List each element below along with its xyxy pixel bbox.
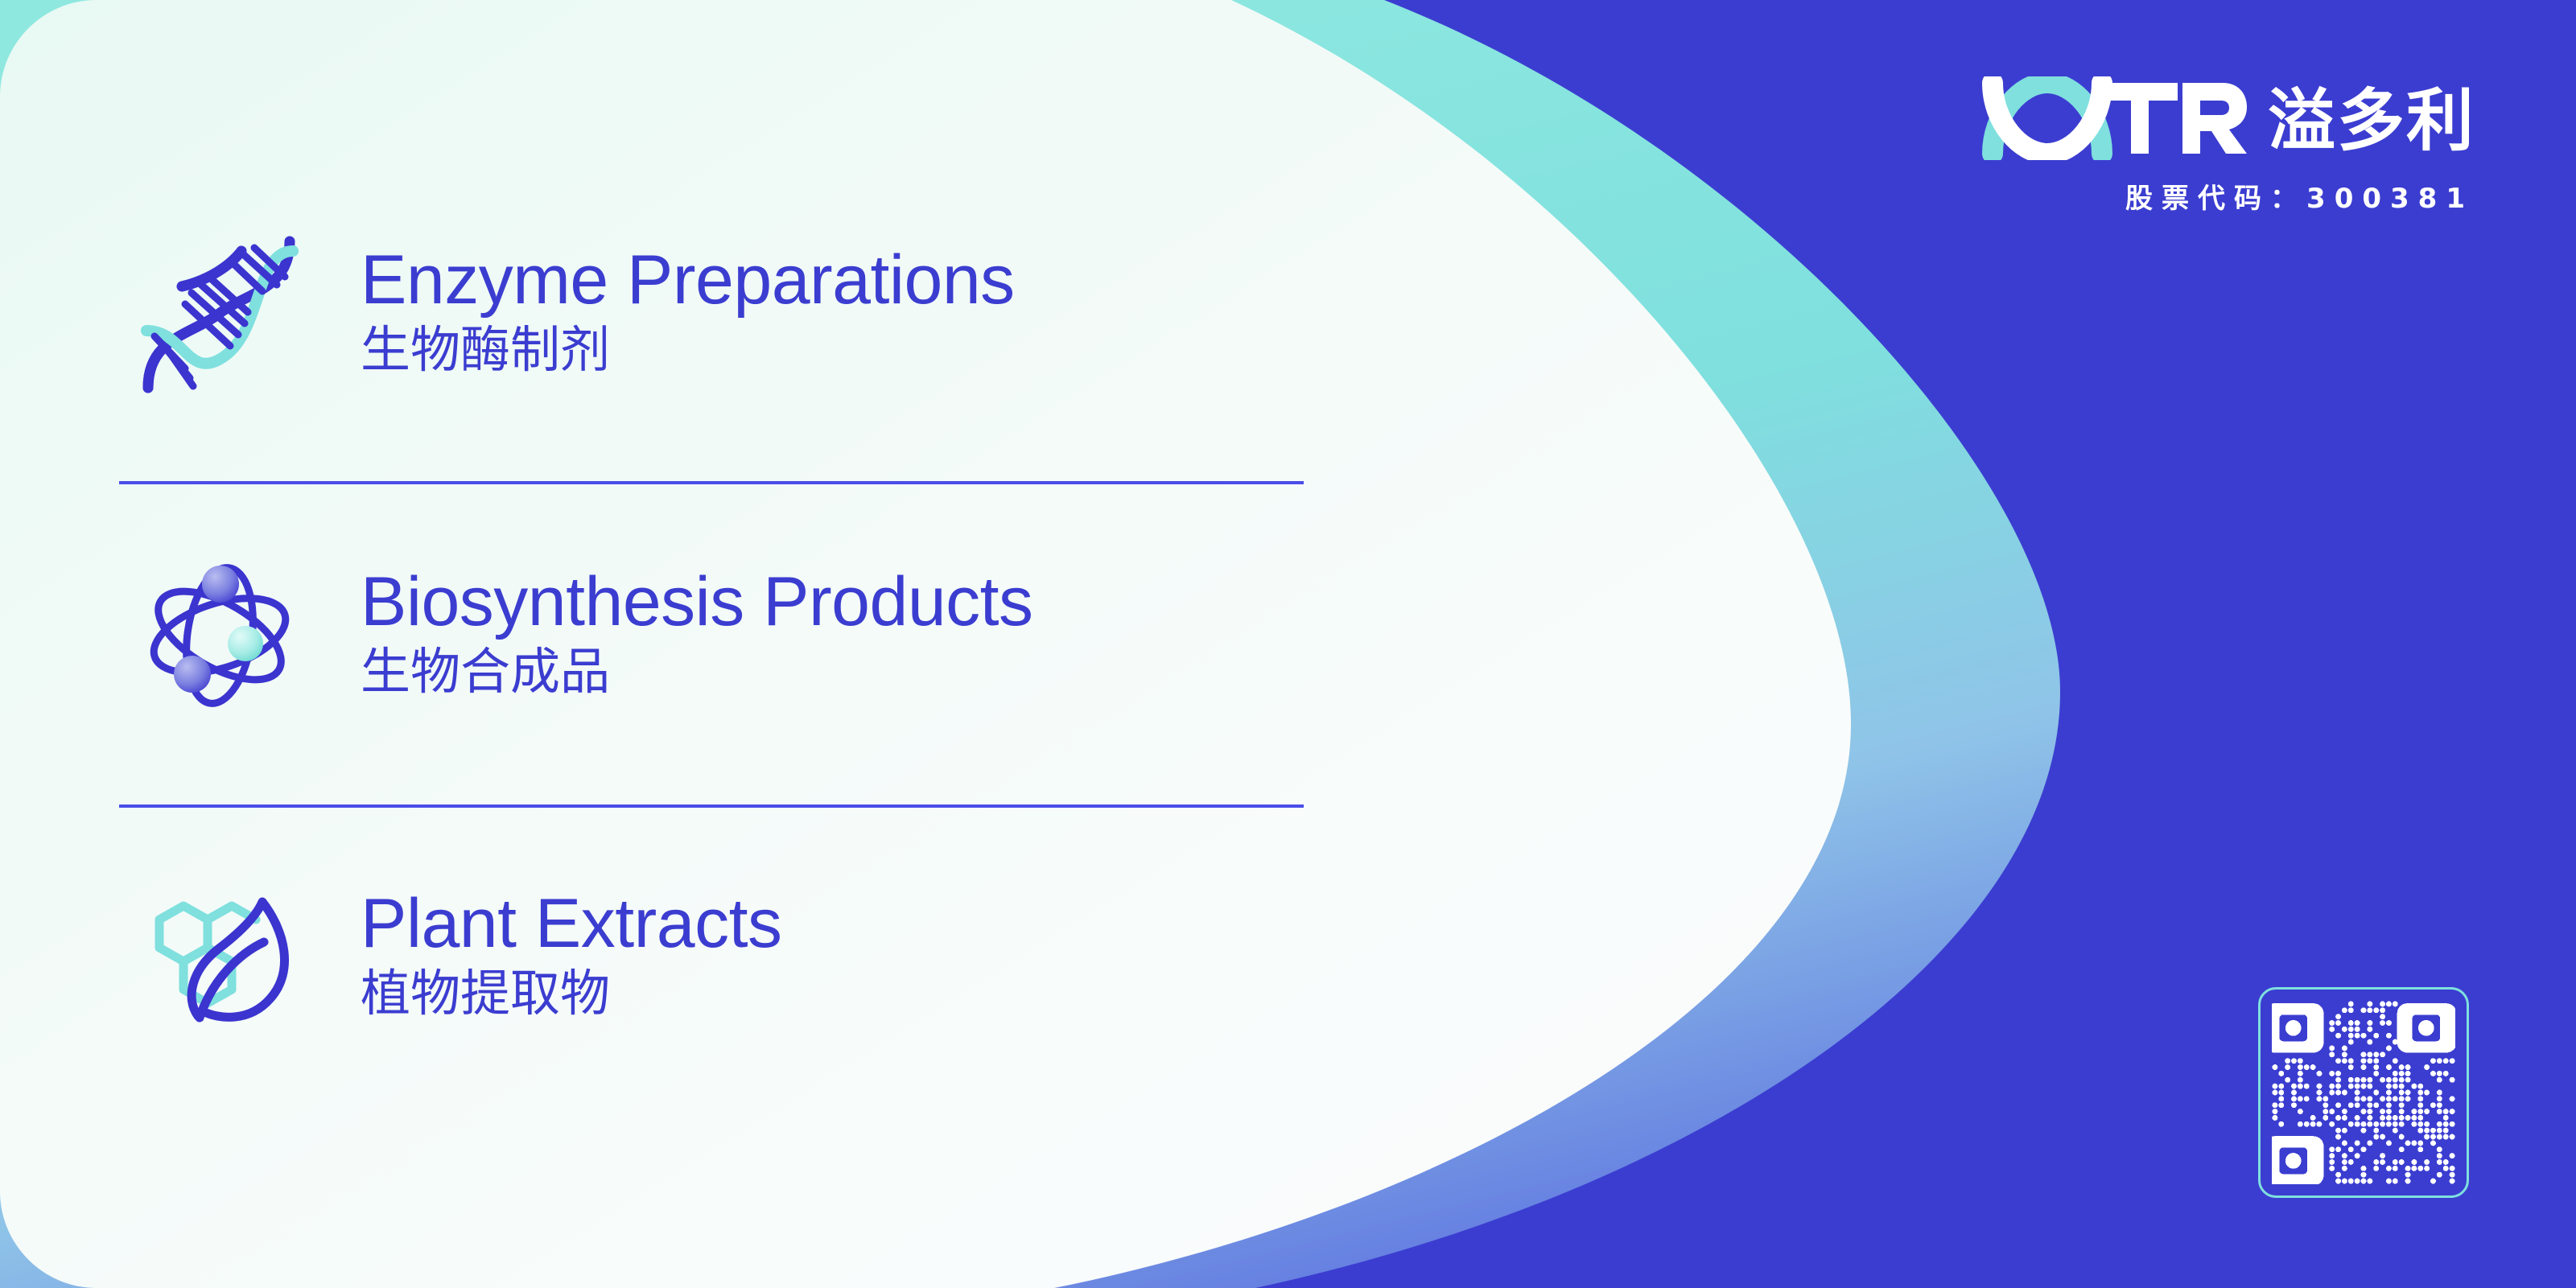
product-title-en: Plant Extracts <box>361 888 782 960</box>
product-text: Biosynthesis Products 生物合成品 <box>361 566 1033 704</box>
product-row-enzyme-preparations: Enzyme Preparations 生物酶制剂 <box>119 213 1310 414</box>
logo-row: 溢多利 <box>1981 76 2475 164</box>
product-title-cn: 生物合成品 <box>361 639 1033 705</box>
atom-icon <box>119 535 320 736</box>
dna-helix-icon <box>119 213 320 414</box>
product-list: Enzyme Preparations 生物酶制剂 <box>0 0 1408 1288</box>
product-title-cn: 生物酶制剂 <box>361 317 1015 383</box>
product-row-biosynthesis-products: Biosynthesis Products 生物合成品 <box>119 535 1310 736</box>
product-text: Plant Extracts 植物提取物 <box>361 888 782 1026</box>
divider-2 <box>119 804 1304 808</box>
product-row-plant-extracts: Plant Extracts 植物提取物 <box>119 857 1310 1058</box>
qr-code-icon[interactable]: {} <box>2258 987 2469 1198</box>
divider-1 <box>119 481 1304 484</box>
product-title-cn: 植物提取物 <box>361 961 782 1027</box>
product-banner: Enzyme Preparations 生物酶制剂 <box>0 0 2576 1288</box>
hexagon-leaf-icon <box>119 857 320 1058</box>
logo-block: 溢多利 股票代码：300381 <box>1981 76 2475 212</box>
product-title-en: Biosynthesis Products <box>361 566 1033 638</box>
logo-company-name-cn: 溢多利 <box>2268 87 2475 154</box>
product-title-en: Enzyme Preparations <box>361 245 1015 316</box>
product-text: Enzyme Preparations 生物酶制剂 <box>361 245 1015 382</box>
stock-code-label: 股票代码：300381 <box>1981 185 2475 212</box>
xtr-helix-logo-icon <box>1981 76 2247 164</box>
